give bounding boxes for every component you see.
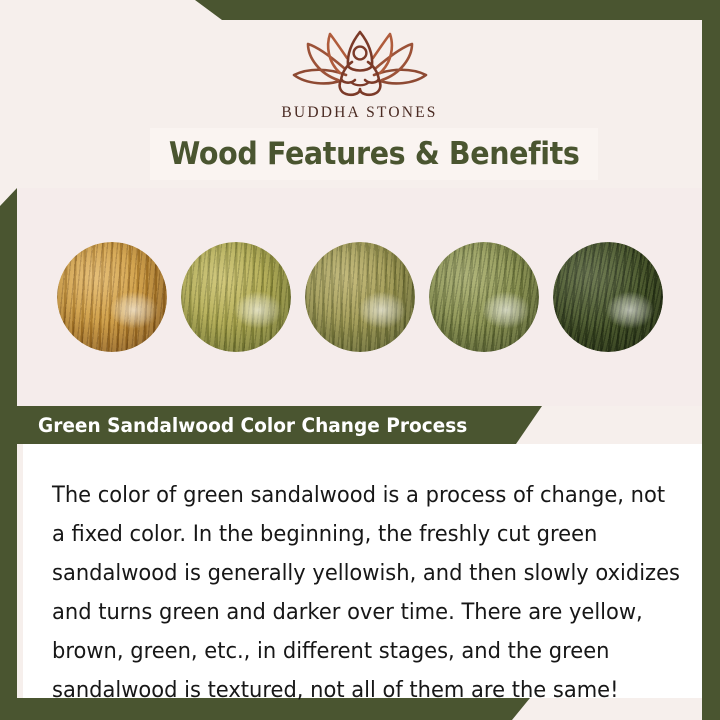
frame-border-left xyxy=(0,0,17,720)
bead-shading xyxy=(181,242,291,352)
section-ribbon: Green Sandalwood Color Change Process xyxy=(0,406,542,444)
bead-shading xyxy=(57,242,167,352)
bead-shading xyxy=(429,242,539,352)
frame-border-right xyxy=(702,0,720,720)
lotus-meditation-icon xyxy=(284,28,436,100)
title-banner: Wood Features & Benefits xyxy=(150,128,598,180)
description-panel: The color of green sandalwood is a proce… xyxy=(23,444,702,698)
bead-stage-1 xyxy=(57,242,167,352)
bead-stage-2 xyxy=(181,242,291,352)
infographic-root: BUDDHA STONES Wood Features & Benefits xyxy=(0,0,720,720)
bead-stage-5 xyxy=(553,242,663,352)
page-title: Wood Features & Benefits xyxy=(169,136,580,172)
frame-border-top xyxy=(0,0,720,20)
description-paragraph: The color of green sandalwood is a proce… xyxy=(52,476,684,710)
content-canvas: BUDDHA STONES Wood Features & Benefits xyxy=(17,20,702,698)
section-ribbon-label: Green Sandalwood Color Change Process xyxy=(0,414,467,437)
bead-shading xyxy=(305,242,415,352)
brand-name: BUDDHA STONES xyxy=(17,104,702,122)
bead-progression-section xyxy=(17,188,702,406)
bead-stage-4 xyxy=(429,242,539,352)
bead-stage-3 xyxy=(305,242,415,352)
brand-logo: BUDDHA STONES xyxy=(17,20,702,122)
bead-row xyxy=(17,188,702,406)
bead-shading xyxy=(553,242,663,352)
